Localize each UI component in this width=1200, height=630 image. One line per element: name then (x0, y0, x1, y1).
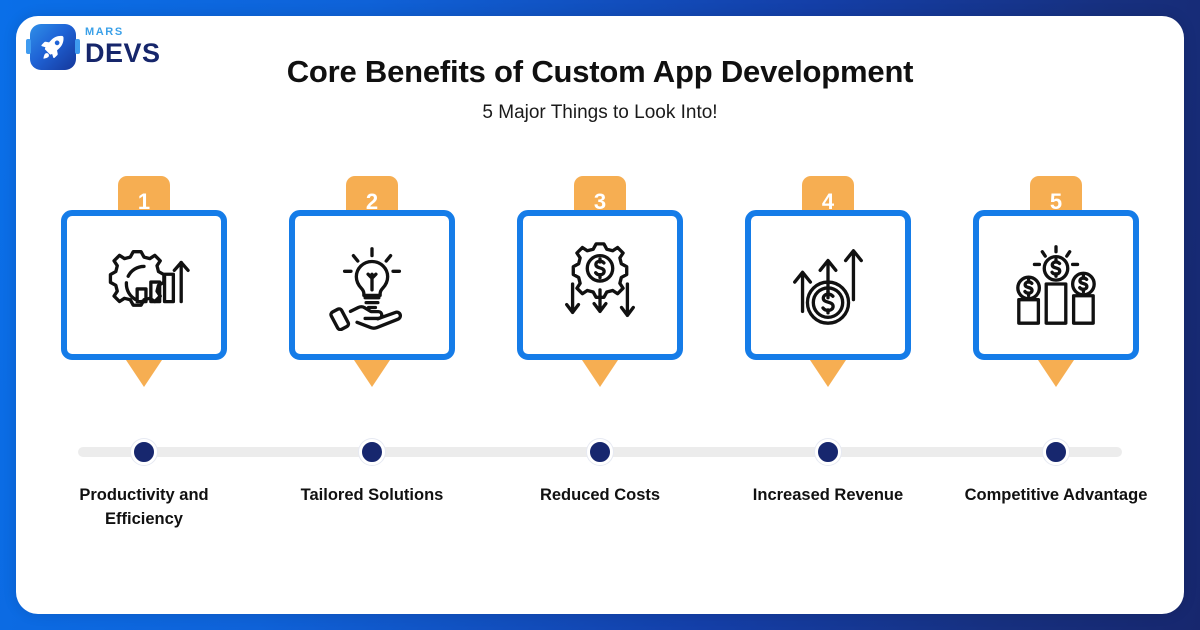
step-connector-arrow (580, 357, 620, 387)
step-connector-arrow (1036, 357, 1076, 387)
step-3: 3 (502, 176, 698, 387)
bar-chart-dollar-coins-icon (1007, 239, 1105, 331)
timeline-dot-row (46, 439, 1154, 465)
step-icon-card (517, 210, 683, 360)
step-connector-arrow (124, 357, 164, 387)
timeline-dot (131, 439, 157, 465)
lightbulb-in-hand-icon (323, 239, 421, 331)
timeline-dot-wrap-2 (274, 439, 470, 465)
timeline-dot (359, 439, 385, 465)
timeline-dot-wrap-3 (502, 439, 698, 465)
step-connector-arrow (352, 357, 392, 387)
timeline-dot-wrap-4 (730, 439, 926, 465)
step-icon-card (973, 210, 1139, 360)
step-5: 5 (958, 176, 1154, 387)
step-label-4: Increased Revenue (730, 484, 926, 532)
page-title: Core Benefits of Custom App Development (16, 54, 1184, 90)
step-label-3: Reduced Costs (502, 484, 698, 532)
step-label-5: Competitive Advantage (958, 484, 1154, 532)
gear-dollar-down-arrows-icon (551, 239, 649, 331)
timeline-dot-wrap-5 (958, 439, 1154, 465)
timeline-dot (815, 439, 841, 465)
step-label-row: Productivity and Efficiency Tailored Sol… (46, 484, 1154, 532)
step-card-row: 1 (46, 176, 1154, 387)
step-2: 2 (274, 176, 470, 387)
heading-block: Core Benefits of Custom App Development … (16, 54, 1184, 124)
up-arrows-dollar-coin-icon (779, 239, 877, 331)
timeline-dot (1043, 439, 1069, 465)
brand-line-mars: MARS (85, 27, 161, 38)
infographic-canvas: MARS DEVS Core Benefits of Custom App De… (0, 0, 1200, 630)
step-icon-card (289, 210, 455, 360)
step-icon-card (745, 210, 911, 360)
step-label-1: Productivity and Efficiency (46, 484, 242, 532)
step-connector-arrow (808, 357, 848, 387)
step-1: 1 (46, 176, 242, 387)
page-subtitle: 5 Major Things to Look Into! (16, 102, 1184, 124)
step-icon-card (61, 210, 227, 360)
content-panel: MARS DEVS Core Benefits of Custom App De… (16, 16, 1184, 614)
timeline-dot-wrap-1 (46, 439, 242, 465)
step-4: 4 (730, 176, 926, 387)
gear-bar-chart-growth-icon (95, 239, 193, 331)
step-label-2: Tailored Solutions (274, 484, 470, 532)
timeline-dot (587, 439, 613, 465)
